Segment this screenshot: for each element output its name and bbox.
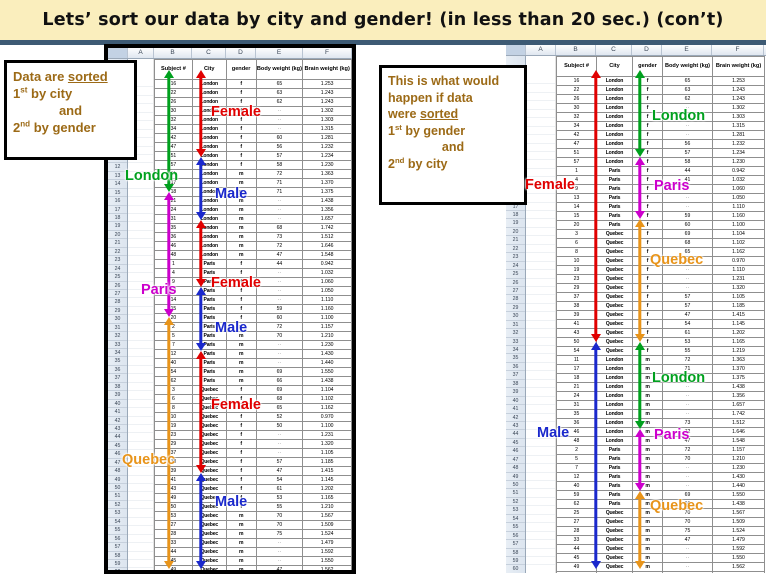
cell-column-a[interactable] — [128, 400, 153, 408]
cell-body[interactable]: ·· — [256, 539, 303, 548]
cell-brain[interactable]: 1.370 — [713, 365, 765, 374]
cell-brain[interactable]: 1.567 — [713, 509, 765, 518]
row-number[interactable]: 22 — [108, 248, 127, 256]
row-number[interactable]: 35 — [108, 357, 127, 365]
cell-brain[interactable]: 0.970 — [713, 257, 765, 266]
table-row[interactable]: 29Quebecf··1.320 — [155, 440, 352, 449]
cell-brain[interactable]: 1.479 — [713, 536, 765, 545]
cell-column-a[interactable] — [526, 540, 555, 548]
cell-column-a[interactable] — [128, 298, 153, 306]
row-number[interactable]: 20 — [108, 231, 127, 239]
table-row[interactable]: 13Parisf··1.050 — [557, 194, 765, 203]
table-row[interactable]: 33Quebecm471.479 — [557, 536, 765, 545]
cell-brain[interactable]: 1.440 — [713, 482, 765, 491]
table-row[interactable]: 40Parism··1.440 — [557, 482, 765, 491]
cell-gen[interactable]: m — [633, 572, 663, 574]
table-row[interactable]: 29Quebecf··1.320 — [557, 284, 765, 293]
table-row[interactable]: 23Quebecf··1.231 — [557, 275, 765, 284]
col-header-a[interactable]: A — [526, 45, 556, 55]
cell-brain[interactable]: 1.363 — [303, 170, 352, 179]
cell-brain[interactable]: 1.100 — [303, 422, 352, 431]
cell-brain[interactable]: 1.105 — [713, 293, 765, 302]
cell-body[interactable]: 58 — [663, 158, 713, 167]
cell-column-a[interactable] — [526, 515, 555, 523]
row-number[interactable]: 32 — [108, 332, 127, 340]
row-number[interactable]: 51 — [506, 489, 525, 497]
cell-column-a[interactable] — [128, 341, 153, 349]
col-header-a[interactable]: A — [128, 48, 154, 58]
cell-body[interactable]: 57 — [663, 302, 713, 311]
table-row[interactable]: 7Parism··1.230 — [557, 464, 765, 473]
cell-gen[interactable]: f — [226, 143, 256, 152]
cell-body[interactable]: ·· — [663, 554, 713, 563]
row-number[interactable]: 54 — [506, 515, 525, 523]
cell-column-a[interactable] — [526, 287, 555, 295]
cell-body[interactable]: ·· — [256, 359, 303, 368]
cell-body[interactable]: 57 — [256, 458, 303, 467]
cell-brain[interactable]: 1.232 — [303, 143, 352, 152]
table-row[interactable]: 51Londonf571.234 — [557, 149, 765, 158]
cell-gen[interactable]: f — [226, 440, 256, 449]
table-row[interactable]: 5Parism701.210 — [557, 455, 765, 464]
row-number[interactable]: 38 — [506, 380, 525, 388]
cell-body[interactable]: ·· — [663, 284, 713, 293]
cell-column-a[interactable] — [526, 532, 555, 540]
table-row[interactable]: 15Parisf591.160 — [557, 212, 765, 221]
cell-gen[interactable]: m — [226, 368, 256, 377]
col-header-f[interactable]: F — [712, 45, 764, 55]
cell-body[interactable]: ·· — [256, 296, 303, 305]
table-row[interactable]: 21Londonm··1.438 — [155, 197, 352, 206]
table-row[interactable]: 3Quebecf691.104 — [557, 230, 765, 239]
table-row[interactable]: 45Quebecm··1.550 — [155, 557, 352, 566]
cell-body[interactable]: 47 — [256, 251, 303, 260]
table-row[interactable]: 2Parism721.157 — [557, 446, 765, 455]
cell-gen[interactable]: f — [226, 80, 256, 89]
cell-column-a[interactable] — [128, 417, 153, 425]
table-row[interactable]: 12Parism··1.430 — [557, 473, 765, 482]
cell-column-a[interactable] — [128, 509, 153, 517]
cell-body[interactable]: 62 — [663, 95, 713, 104]
cell-brain[interactable]: 1.548 — [303, 251, 352, 260]
cell-column-a[interactable] — [526, 346, 555, 354]
cell-body[interactable]: 54 — [256, 476, 303, 485]
cell-body[interactable]: 53 — [663, 338, 713, 347]
cell-gen[interactable]: m — [226, 170, 256, 179]
cell-gen[interactable]: f — [226, 467, 256, 476]
cell-brain[interactable]: 1.102 — [713, 239, 765, 248]
cell-column-a[interactable] — [128, 265, 153, 273]
cell-body[interactable]: 68 — [663, 239, 713, 248]
cell-brain[interactable]: 1.210 — [303, 332, 352, 341]
table-row[interactable]: 6Quebecf681.102 — [557, 239, 765, 248]
cell-column-a[interactable] — [128, 273, 153, 281]
cell-body[interactable]: 57 — [256, 152, 303, 161]
cell-body[interactable]: ·· — [663, 482, 713, 491]
cell-column-a[interactable] — [128, 535, 153, 543]
table-row[interactable]: 42Londonf··1.281 — [557, 131, 765, 140]
cell-body[interactable]: ·· — [256, 287, 303, 296]
cell-brain[interactable]: 1.281 — [303, 134, 352, 143]
cell-column-a[interactable] — [526, 557, 555, 565]
cell-column-a[interactable] — [526, 473, 555, 481]
cell-column-a[interactable] — [128, 222, 153, 230]
row-number[interactable]: 29 — [108, 307, 127, 315]
col-header-f[interactable]: F — [303, 48, 352, 58]
table-row[interactable]: 39Quebecf471.415 — [155, 467, 352, 476]
cell-column-a[interactable] — [526, 489, 555, 497]
col-header-c[interactable]: C — [192, 48, 226, 58]
table-row[interactable]: 23Quebecf··1.231 — [155, 431, 352, 440]
row-number[interactable]: 17 — [108, 206, 127, 214]
cell-column-a[interactable] — [526, 565, 555, 573]
cell-gen[interactable]: f — [226, 296, 256, 305]
cell-gen[interactable]: m — [226, 251, 256, 260]
cell-brain[interactable]: 1.550 — [303, 368, 352, 377]
cell-body[interactable]: ·· — [663, 563, 713, 572]
table-row[interactable]: 49Quebecm··1.562 — [557, 563, 765, 572]
cell-body[interactable]: ·· — [256, 269, 303, 278]
cell-column-a[interactable] — [526, 84, 555, 92]
row-number[interactable]: 55 — [108, 526, 127, 534]
row-number[interactable]: 40 — [506, 397, 525, 405]
cell-brain[interactable]: 1.157 — [713, 446, 765, 455]
cell-column-a[interactable] — [526, 295, 555, 303]
cell-brain[interactable]: 1.243 — [713, 86, 765, 95]
cell-body[interactable]: ·· — [663, 392, 713, 401]
cell-body[interactable]: 70 — [256, 521, 303, 530]
cell-brain[interactable]: 1.479 — [713, 572, 765, 574]
table-row[interactable]: 51Londonf571.234 — [155, 152, 352, 161]
cell-body[interactable]: 44 — [663, 167, 713, 176]
cell-column-a[interactable] — [526, 549, 555, 557]
col-header-e[interactable]: E — [256, 48, 303, 58]
table-row[interactable]: 27Quebecm701.509 — [557, 518, 765, 527]
table-row[interactable]: 1Parisf440.942 — [155, 260, 352, 269]
cell-brain[interactable]: 1.550 — [713, 491, 765, 500]
cell-brain[interactable]: 1.430 — [303, 350, 352, 359]
table-row[interactable]: 31Londonm··1.657 — [557, 401, 765, 410]
cell-body[interactable]: 72 — [256, 170, 303, 179]
cell-body[interactable]: 70 — [256, 332, 303, 341]
cell-column-a[interactable] — [128, 349, 153, 357]
cell-column-a[interactable] — [526, 498, 555, 506]
table-row[interactable]: 14Parisf··1.110 — [155, 296, 352, 305]
cell-column-a[interactable] — [526, 397, 555, 405]
row-number[interactable]: 30 — [108, 315, 127, 323]
cell-body[interactable]: ·· — [256, 125, 303, 134]
row-number[interactable]: 51 — [108, 492, 127, 500]
row-number[interactable]: 36 — [506, 363, 525, 371]
table-row[interactable]: 47Londonf561.232 — [557, 140, 765, 149]
table-row[interactable]: 50Quebecm631.479 — [557, 572, 765, 574]
cell-body[interactable]: ·· — [256, 116, 303, 125]
row-number[interactable]: 28 — [506, 295, 525, 303]
table-row[interactable]: 5Parism701.210 — [155, 332, 352, 341]
table-row[interactable]: 20Parisf601.100 — [155, 314, 352, 323]
cell-brain[interactable]: 1.363 — [713, 356, 765, 365]
cell-brain[interactable]: 1.160 — [713, 212, 765, 221]
cell-column-a[interactable] — [526, 363, 555, 371]
cell-brain[interactable]: 1.438 — [713, 500, 765, 509]
cell-brain[interactable]: 1.157 — [303, 323, 352, 332]
cell-gen[interactable]: m — [226, 215, 256, 224]
cell-gen[interactable]: f — [226, 161, 256, 170]
cell-brain[interactable]: 1.231 — [713, 275, 765, 284]
cell-column-a[interactable] — [526, 135, 555, 143]
cell-brain[interactable]: 1.375 — [303, 188, 352, 197]
cell-column-a[interactable] — [526, 76, 555, 84]
cell-brain[interactable]: 1.219 — [713, 347, 765, 356]
cell-column-a[interactable] — [526, 380, 555, 388]
cell-brain[interactable]: 1.375 — [713, 374, 765, 383]
cell-body[interactable]: ·· — [256, 440, 303, 449]
cell-body[interactable]: 59 — [663, 212, 713, 221]
cell-gen[interactable]: f — [226, 260, 256, 269]
cell-brain[interactable]: 1.210 — [713, 455, 765, 464]
row-number[interactable]: 38 — [108, 383, 127, 391]
cell-brain[interactable]: 1.302 — [713, 104, 765, 113]
table-row[interactable]: 49Quebecm471.562 — [155, 566, 352, 574]
table-row[interactable]: 14Parisf··1.110 — [557, 203, 765, 212]
cell-brain[interactable]: 1.592 — [713, 545, 765, 554]
cell-body[interactable]: ·· — [663, 194, 713, 203]
table-row[interactable]: 35Londonm681.742 — [155, 224, 352, 233]
cell-body[interactable]: ·· — [256, 206, 303, 215]
table-row[interactable]: 37Quebecf··1.105 — [155, 449, 352, 458]
cell-brain[interactable]: 1.315 — [713, 122, 765, 131]
cell-brain[interactable]: 1.303 — [303, 116, 352, 125]
row-number[interactable]: 49 — [506, 473, 525, 481]
cell-body[interactable]: ·· — [663, 275, 713, 284]
cell-body[interactable]: 75 — [256, 530, 303, 539]
cell-body[interactable]: 61 — [256, 485, 303, 494]
cell-brain[interactable]: 1.253 — [303, 80, 352, 89]
cell-body[interactable]: 47 — [256, 467, 303, 476]
cell-brain[interactable]: 1.210 — [303, 503, 352, 512]
cell-body[interactable]: 47 — [256, 566, 303, 574]
cell-brain[interactable]: 1.592 — [303, 548, 352, 557]
cell-brain[interactable]: 1.524 — [713, 527, 765, 536]
table-row[interactable]: 48Londonm471.548 — [155, 251, 352, 260]
cell-body[interactable]: ·· — [256, 197, 303, 206]
cell-gen[interactable]: m — [226, 521, 256, 530]
cell-brain[interactable]: 1.050 — [303, 287, 352, 296]
cell-brain[interactable]: 1.110 — [713, 266, 765, 275]
cell-column-a[interactable] — [526, 523, 555, 531]
cell-column-a[interactable] — [526, 456, 555, 464]
table-row[interactable]: 62Parism661.438 — [155, 377, 352, 386]
cell-column-a[interactable] — [128, 239, 153, 247]
cell-gen[interactable]: m — [226, 530, 256, 539]
right-column-a-cells[interactable] — [526, 56, 556, 573]
cell-brain[interactable]: 1.243 — [303, 89, 352, 98]
cell-brain[interactable]: 1.356 — [303, 206, 352, 215]
table-row[interactable]: 36Londonm731.512 — [155, 233, 352, 242]
row-number[interactable]: 41 — [108, 408, 127, 416]
cell-gen[interactable]: f — [226, 431, 256, 440]
row-number[interactable]: 15 — [108, 189, 127, 197]
cell-column-a[interactable] — [526, 203, 555, 211]
cell-brain[interactable]: 1.281 — [713, 131, 765, 140]
cell-brain[interactable]: 0.942 — [713, 167, 765, 176]
cell-brain[interactable]: 1.202 — [303, 485, 352, 494]
cell-column-a[interactable] — [128, 476, 153, 484]
table-row[interactable]: 26Londonf621.243 — [557, 95, 765, 104]
cell-brain[interactable]: 1.302 — [303, 107, 352, 116]
row-number[interactable]: 16 — [108, 197, 127, 205]
cell-column-a[interactable] — [128, 492, 153, 500]
cell-brain[interactable]: 1.100 — [303, 314, 352, 323]
cell-body[interactable]: 68 — [256, 224, 303, 233]
cell-brain[interactable]: 1.231 — [303, 431, 352, 440]
row-number[interactable]: 58 — [506, 549, 525, 557]
cell-column-a[interactable] — [128, 501, 153, 509]
cell-body[interactable]: ·· — [663, 203, 713, 212]
cell-body[interactable]: ·· — [256, 431, 303, 440]
row-number[interactable]: 35 — [506, 354, 525, 362]
cell-body[interactable]: 60 — [256, 314, 303, 323]
cell-body[interactable]: ·· — [663, 545, 713, 554]
cell-gen[interactable]: m — [226, 548, 256, 557]
cell-brain[interactable]: 1.512 — [303, 233, 352, 242]
row-number[interactable]: 34 — [108, 349, 127, 357]
cell-body[interactable]: ·· — [256, 341, 303, 350]
cell-column-a[interactable] — [128, 518, 153, 526]
table-row[interactable]: 54Parism691.550 — [155, 368, 352, 377]
cell-brain[interactable]: 1.657 — [303, 215, 352, 224]
row-number[interactable]: 26 — [506, 279, 525, 287]
row-number[interactable]: 30 — [506, 312, 525, 320]
table-row[interactable]: 43Quebecf611.202 — [155, 485, 352, 494]
cell-body[interactable]: ·· — [663, 473, 713, 482]
cell-column-a[interactable] — [526, 110, 555, 118]
table-row[interactable]: 20Parisf601.100 — [557, 221, 765, 230]
cell-brain[interactable]: 1.562 — [303, 566, 352, 574]
cell-brain[interactable]: 1.512 — [713, 419, 765, 428]
table-row[interactable]: 18Londonm711.375 — [155, 188, 352, 197]
row-number[interactable]: 22 — [506, 245, 525, 253]
cell-body[interactable]: 69 — [663, 230, 713, 239]
table-row[interactable]: 43Quebecf611.202 — [557, 329, 765, 338]
cell-gen[interactable]: f — [226, 458, 256, 467]
cell-subj[interactable]: 50 — [557, 572, 597, 574]
cell-brain[interactable]: 1.742 — [713, 410, 765, 419]
row-number[interactable]: 18 — [506, 211, 525, 219]
cell-brain[interactable]: 1.032 — [303, 269, 352, 278]
cell-gen[interactable]: m — [226, 350, 256, 359]
cell-brain[interactable]: 1.440 — [303, 359, 352, 368]
cell-brain[interactable]: 1.232 — [713, 140, 765, 149]
cell-column-a[interactable] — [526, 329, 555, 337]
cell-brain[interactable]: 1.548 — [713, 437, 765, 446]
table-row[interactable]: 17Londonm711.370 — [155, 179, 352, 188]
cell-column-a[interactable] — [526, 245, 555, 253]
cell-body[interactable]: 65 — [256, 80, 303, 89]
cell-body[interactable]: ·· — [256, 107, 303, 116]
cell-column-a[interactable] — [128, 383, 153, 391]
table-row[interactable]: 44Quebecm··1.592 — [557, 545, 765, 554]
cell-body[interactable]: ·· — [256, 215, 303, 224]
cell-brain[interactable]: 1.253 — [713, 77, 765, 86]
row-number[interactable]: 47 — [506, 456, 525, 464]
cell-column-a[interactable] — [526, 506, 555, 514]
cell-gen[interactable]: m — [226, 242, 256, 251]
table-row[interactable]: 41Quebecf541.145 — [155, 476, 352, 485]
cell-gen[interactable]: m — [226, 224, 256, 233]
table-row[interactable]: 15Parisf591.160 — [155, 305, 352, 314]
cell-body[interactable]: 47 — [663, 311, 713, 320]
cell-brain[interactable]: 1.438 — [303, 197, 352, 206]
cell-brain[interactable]: 1.234 — [303, 152, 352, 161]
cell-brain[interactable]: 1.104 — [713, 230, 765, 239]
cell-column-a[interactable] — [128, 357, 153, 365]
cell-brain[interactable]: 1.102 — [303, 395, 352, 404]
cell-gen[interactable]: f — [226, 485, 256, 494]
cell-brain[interactable]: 1.479 — [303, 539, 352, 548]
row-number[interactable]: 20 — [506, 228, 525, 236]
cell-column-a[interactable] — [526, 464, 555, 472]
cell-column-a[interactable] — [526, 152, 555, 160]
table-row[interactable]: 44Quebecm··1.592 — [155, 548, 352, 557]
cell-column-a[interactable] — [526, 93, 555, 101]
cell-brain[interactable]: 1.165 — [713, 338, 765, 347]
row-number[interactable]: 39 — [108, 391, 127, 399]
table-row[interactable]: 27Quebecm701.509 — [155, 521, 352, 530]
cell-gen[interactable]: f — [226, 152, 256, 161]
cell-column-a[interactable] — [526, 321, 555, 329]
cell-gen[interactable]: f — [226, 386, 256, 395]
cell-column-a[interactable] — [128, 543, 153, 551]
cell-body[interactable]: 50 — [256, 422, 303, 431]
select-all-corner[interactable] — [108, 48, 128, 58]
cell-column-a[interactable] — [128, 425, 153, 433]
cell-brain[interactable]: 1.185 — [713, 302, 765, 311]
cell-body[interactable]: ·· — [663, 464, 713, 473]
row-number[interactable]: 50 — [506, 481, 525, 489]
row-number[interactable]: 24 — [108, 265, 127, 273]
cell-brain[interactable]: 1.145 — [303, 476, 352, 485]
cell-brain[interactable]: 1.315 — [303, 125, 352, 134]
cell-gen[interactable]: m — [226, 377, 256, 386]
row-number[interactable]: 55 — [506, 523, 525, 531]
cell-body[interactable]: 52 — [256, 413, 303, 422]
table-row[interactable]: 33Quebecm··1.479 — [155, 539, 352, 548]
row-number[interactable]: 23 — [506, 253, 525, 261]
row-number[interactable]: 48 — [506, 464, 525, 472]
cell-brain[interactable]: 1.562 — [713, 563, 765, 572]
cell-body[interactable]: 47 — [663, 536, 713, 545]
row-number[interactable]: 24 — [506, 262, 525, 270]
cell-column-a[interactable] — [128, 307, 153, 315]
cell-brain[interactable]: 1.230 — [713, 158, 765, 167]
cell-column-a[interactable] — [526, 414, 555, 422]
row-number[interactable]: 46 — [506, 447, 525, 455]
cell-brain[interactable]: 1.230 — [713, 464, 765, 473]
table-row[interactable]: 16Londonf651.253 — [557, 77, 765, 86]
cell-brain[interactable]: 1.060 — [303, 278, 352, 287]
row-number[interactable]: 27 — [108, 290, 127, 298]
cell-brain[interactable]: 1.320 — [303, 440, 352, 449]
row-number[interactable]: 48 — [108, 467, 127, 475]
row-number[interactable]: 44 — [506, 430, 525, 438]
cell-column-a[interactable] — [128, 374, 153, 382]
cell-column-a[interactable] — [128, 248, 153, 256]
table-row[interactable]: 10Quebecf520.970 — [155, 413, 352, 422]
row-number[interactable]: 52 — [506, 498, 525, 506]
cell-brain[interactable]: 1.110 — [303, 296, 352, 305]
row-number[interactable]: 39 — [506, 388, 525, 396]
